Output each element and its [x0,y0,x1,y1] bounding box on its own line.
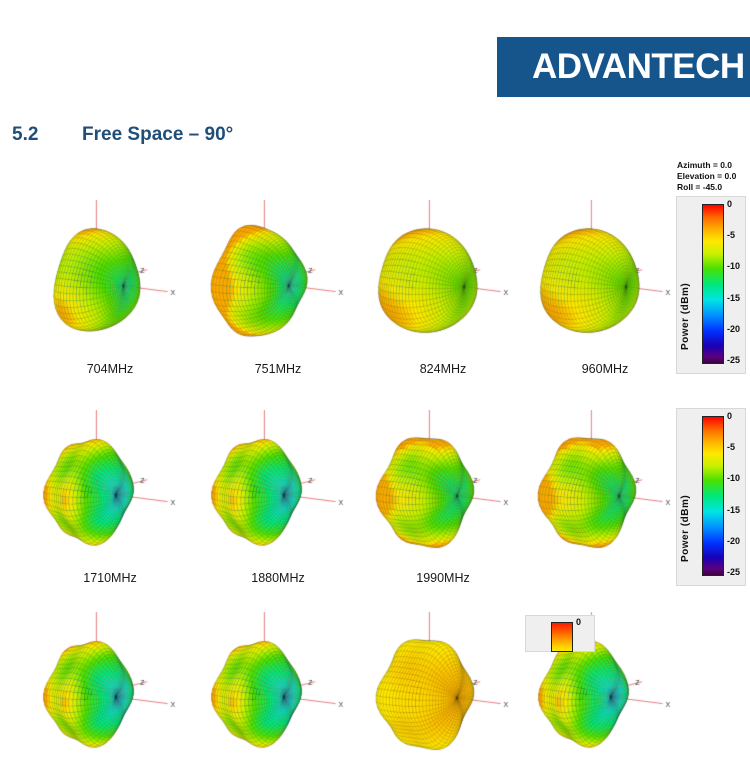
radiation-plot-canvas [358,200,528,350]
frequency-label: 824MHz [358,362,528,376]
radiation-plot [520,410,690,560]
radiation-plot [25,410,195,560]
frequency-label: 1710MHz [25,571,195,585]
colorbar-tick-label: -20 [727,324,740,334]
radiation-plot-canvas [520,410,690,560]
section-title: Free Space – 90° [82,124,233,145]
advantech-logo-banner: ADVANTECH [497,37,750,97]
radiation-plot [358,410,528,560]
radiation-plot [25,200,195,350]
radiation-plot-canvas [25,612,195,762]
radiation-plot-canvas [193,612,363,762]
orientation-elevation: Elevation = 0.0 [677,171,736,182]
section-number: 5.2 [12,124,82,146]
view-orientation-text: Azimuth = 0.0Elevation = 0.0Roll = -45.0 [677,160,736,193]
colorbar-gradient [702,204,724,364]
colorbar-tick-label: -5 [727,230,735,240]
colorbar-tick-label: 0 [727,411,732,421]
colorbar-tick-label: -10 [727,473,740,483]
colorbar-gradient [702,416,724,576]
radiation-plot [358,200,528,350]
frequency-label: 1880MHz [193,571,363,585]
radiation-plot [193,200,363,350]
radiation-plot-canvas [193,200,363,350]
radiation-plot-canvas [520,200,690,350]
colorbar-tick-label: -20 [727,536,740,546]
radiation-plot [358,612,528,762]
orientation-roll: Roll = -45.0 [677,182,736,193]
colorbar-tick-label: 0 [727,199,732,209]
colorbar-tick-label: -5 [727,442,735,452]
radiation-plot [193,410,363,560]
colorbar-tick-label: -15 [727,505,740,515]
radiation-plot-canvas [25,410,195,560]
advantech-logo-text: ADVANTECH [532,47,745,87]
colorbar-tick-label: 0 [576,617,581,627]
colorbar-gradient [551,622,573,652]
colorbar-axis-title: Power (dBm) [680,222,691,350]
radiation-plot [25,612,195,762]
colorbar-tick-label: -10 [727,261,740,271]
radiation-plot-canvas [25,200,195,350]
radiation-plot [193,612,363,762]
colorbar-tick-label: -15 [727,293,740,303]
frequency-label: 704MHz [25,362,195,376]
colorbar-tick-label: -25 [727,355,740,365]
frequency-label: 960MHz [520,362,690,376]
colorbar-axis-title: Power (dBm) [680,434,691,562]
frequency-label: 1990MHz [358,571,528,585]
frequency-label: 751MHz [193,362,363,376]
orientation-azimuth: Azimuth = 0.0 [677,160,736,171]
radiation-plot-canvas [358,612,528,762]
radiation-plot [520,200,690,350]
colorbar-tick-label: -25 [727,567,740,577]
radiation-plot-canvas [193,410,363,560]
radiation-plot-canvas [358,410,528,560]
page-title: 5.2Free Space – 90° [12,124,233,146]
